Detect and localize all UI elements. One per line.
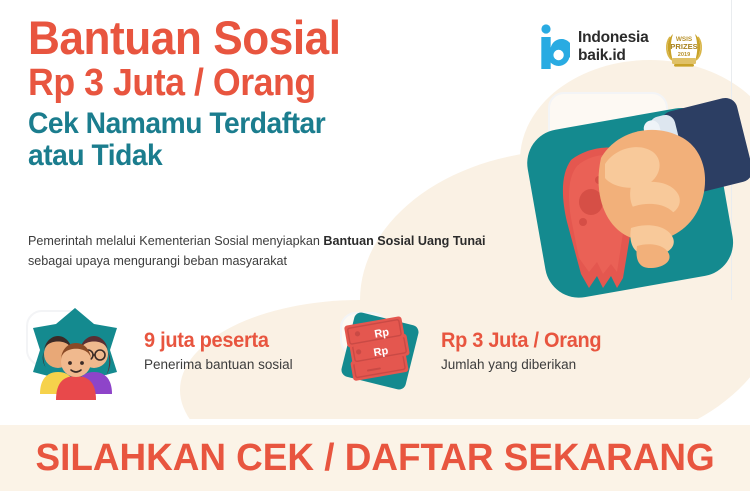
headline-line-3: Cek Namamu Terdaftar — [28, 109, 498, 140]
lead-strong-2: Uang Tunai — [418, 234, 486, 248]
brand-logo-line-2: baik.id — [578, 47, 649, 65]
hand-holding-cash-illustration — [505, 82, 750, 310]
lead-paragraph: Pemerintah melalui Kementerian Sosial me… — [28, 232, 508, 271]
lead-strong-1: Bantuan Sosial — [323, 234, 414, 248]
stat-item-amount: Rp Rp Rp 3 Juta / Orang Jumlah yang dibe… — [335, 306, 610, 398]
rupiah-banknotes-illustration: Rp Rp — [335, 306, 427, 398]
lead-text-3: sebagai upaya mengurangi beban masyaraka… — [28, 254, 287, 268]
stat-caption-amount: Jumlah yang diberikan — [441, 355, 610, 375]
lead-text-1: Pemerintah melalui Kementerian Sosial me… — [28, 234, 323, 248]
cta-banner[interactable]: SILAHKAN CEK / DAFTAR SEKARANG — [0, 425, 750, 491]
three-people-illustration — [20, 302, 130, 402]
headline-line-1: Bantuan Sosial — [28, 14, 498, 62]
banknote-label-2: Rp — [373, 345, 390, 359]
headline-line-2: Rp 3 Juta / Orang — [28, 64, 498, 103]
brand-logo[interactable]: Indonesia baik.id WSIS PRIZES 2019 — [538, 24, 707, 70]
award-line-2: PRIZES — [670, 42, 697, 51]
indonesiabaik-b-icon — [538, 24, 570, 70]
stat-value-participants: 9 juta peserta — [144, 329, 285, 352]
brand-logo-line-1: Indonesia — [578, 29, 649, 47]
headline-line-4: atau Tidak — [28, 141, 498, 172]
headline-block: Bantuan Sosial Rp 3 Juta / Orang Cek Nam… — [28, 14, 528, 172]
stat-item-participants: 9 juta peserta Penerima bantuan sosial — [20, 302, 293, 402]
brand-logo-text: Indonesia baik.id — [578, 29, 649, 66]
wsis-prizes-award-badge: WSIS PRIZES 2019 — [661, 24, 707, 70]
cta-text: SILAHKAN CEK / DAFTAR SEKARANG — [35, 437, 714, 480]
stats-row: 9 juta peserta Penerima bantuan sosial R… — [0, 302, 750, 412]
stat-value-amount: Rp 3 Juta / Orang — [441, 329, 601, 352]
banknote-label-1: Rp — [374, 326, 391, 340]
stat-caption-participants: Penerima bantuan sosial — [144, 355, 293, 375]
infographic-poster: Bantuan Sosial Rp 3 Juta / Orang Cek Nam… — [0, 0, 750, 491]
award-line-3: 2019 — [677, 52, 689, 58]
